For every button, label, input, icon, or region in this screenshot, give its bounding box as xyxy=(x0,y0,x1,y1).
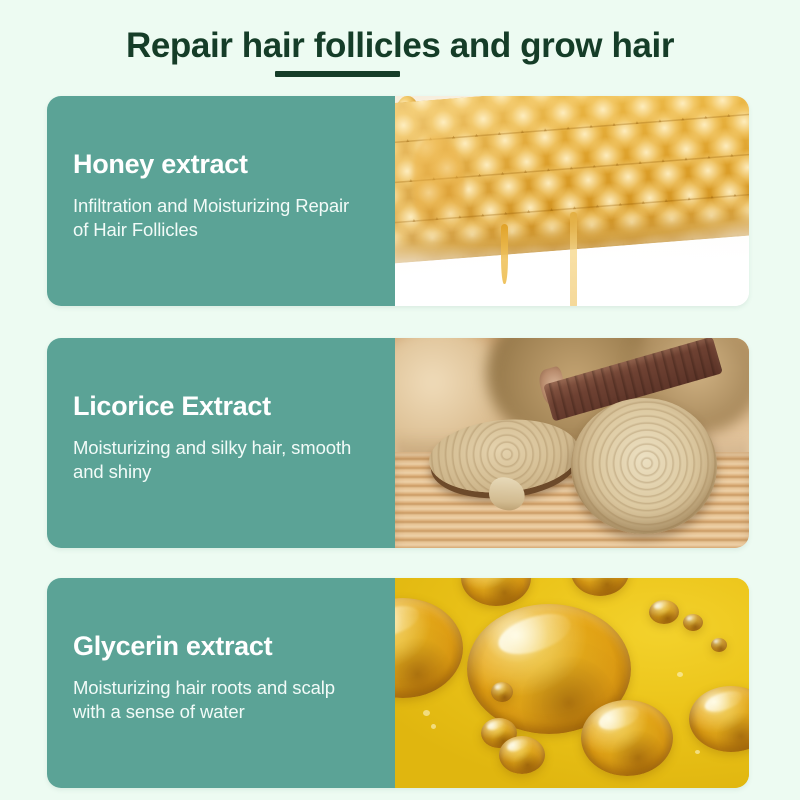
benefit-card-licorice-description: Moisturizing and silky hair, smooth and … xyxy=(73,436,369,484)
oil-speck-1 xyxy=(423,710,430,716)
oil-speck-2 xyxy=(431,724,436,729)
oil-droplet-small-3 xyxy=(491,682,513,702)
oil-droplet-small-2 xyxy=(499,736,545,774)
benefit-card-glycerin-description: Moisturizing hair roots and scalp with a… xyxy=(73,676,369,724)
oil-droplet-left xyxy=(395,598,463,698)
benefit-card-licorice-text-panel: Licorice Extract Moisturizing and silky … xyxy=(47,338,395,548)
benefit-card-glycerin-heading: Glycerin extract xyxy=(73,630,369,662)
oil-droplet-small-6 xyxy=(711,638,727,652)
title-underline-accent xyxy=(275,71,400,77)
honey-drip-stream-left xyxy=(501,224,508,284)
benefit-card-honey-description: Infiltration and Moisturizing Repair of … xyxy=(73,194,369,242)
page-title: Repair hair follicles and grow hair xyxy=(126,24,674,68)
oil-droplet-small-4 xyxy=(649,600,679,624)
oil-droplet-top-left xyxy=(461,578,531,606)
oil-droplet-right xyxy=(689,686,749,752)
oil-droplet-lower xyxy=(581,700,673,776)
page-title-area: Repair hair follicles and grow hair xyxy=(0,24,800,68)
benefit-card-honey: Honey extract Infiltration and Moisturiz… xyxy=(47,96,749,306)
benefit-card-glycerin: Glycerin extract Moisturizing hair roots… xyxy=(47,578,749,788)
licorice-slice-right xyxy=(571,398,717,534)
growth-rings-right xyxy=(571,398,717,534)
oil-droplet-small-5 xyxy=(683,614,703,631)
benefit-card-licorice: Licorice Extract Moisturizing and silky … xyxy=(47,338,749,548)
benefit-card-honey-text-panel: Honey extract Infiltration and Moisturiz… xyxy=(47,96,395,306)
oil-droplet-top-mid xyxy=(571,578,629,596)
benefit-card-licorice-heading: Licorice Extract xyxy=(73,390,369,422)
honey-drip-stream-right xyxy=(570,212,577,306)
oil-speck-3 xyxy=(677,672,683,677)
product-benefits-infographic: Repair hair follicles and grow hair Hone… xyxy=(0,0,800,800)
benefit-card-glycerin-text-panel: Glycerin extract Moisturizing hair roots… xyxy=(47,578,395,788)
oil-speck-4 xyxy=(695,750,700,754)
benefit-card-honey-heading: Honey extract xyxy=(73,148,369,180)
licorice-root-slices-photo xyxy=(395,338,749,548)
honeycomb-dripping-honey-photo xyxy=(395,96,749,306)
glycerin-oil-droplets-photo xyxy=(395,578,749,788)
